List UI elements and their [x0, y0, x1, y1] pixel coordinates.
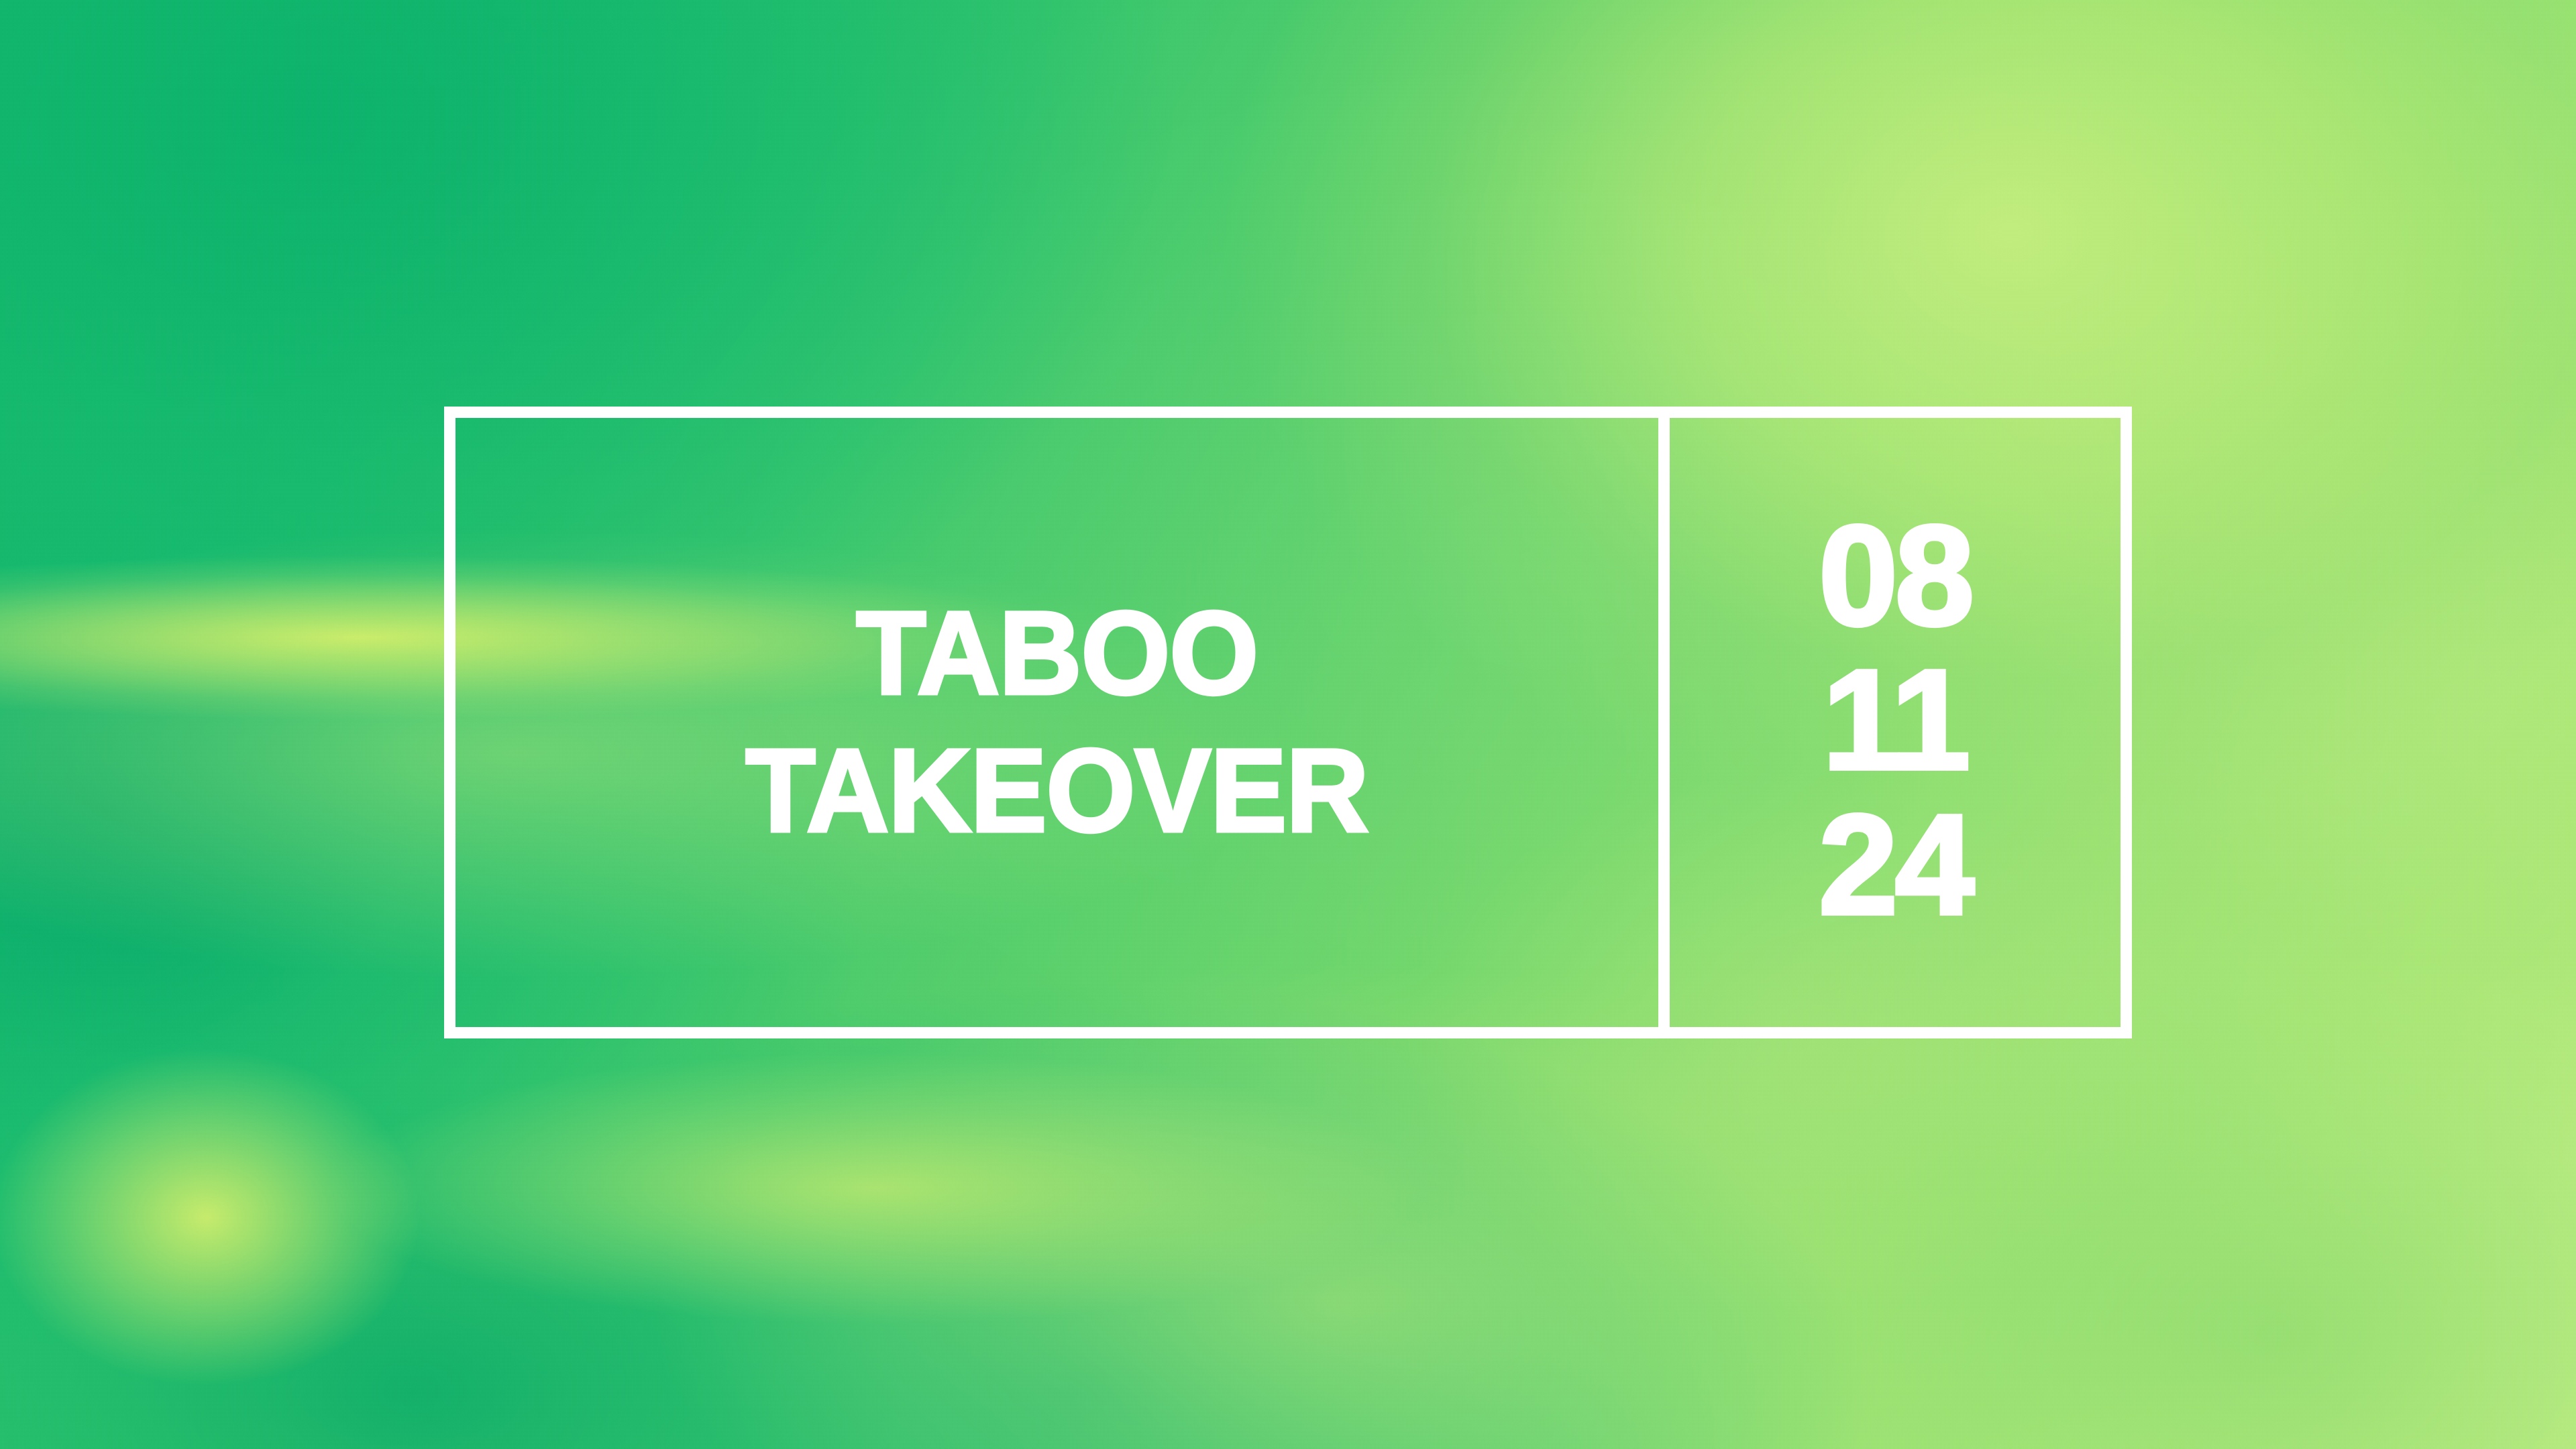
- event-title-block: TABOO TAKEOVER: [455, 418, 1658, 1027]
- event-date-year: 24: [1819, 792, 1972, 936]
- event-poster: TABOO TAKEOVER 08 11 24: [0, 0, 2576, 1449]
- event-date-block: 08 11 24: [1670, 418, 2121, 1027]
- event-date-month: 11: [1823, 647, 1968, 792]
- event-title-line-2: TAKEOVER: [745, 723, 1368, 859]
- event-date-day: 08: [1819, 503, 1972, 647]
- frame-vertical-divider: [1658, 418, 1670, 1027]
- event-frame: TABOO TAKEOVER 08 11 24: [444, 407, 2132, 1038]
- event-title-line-1: TABOO: [856, 586, 1258, 722]
